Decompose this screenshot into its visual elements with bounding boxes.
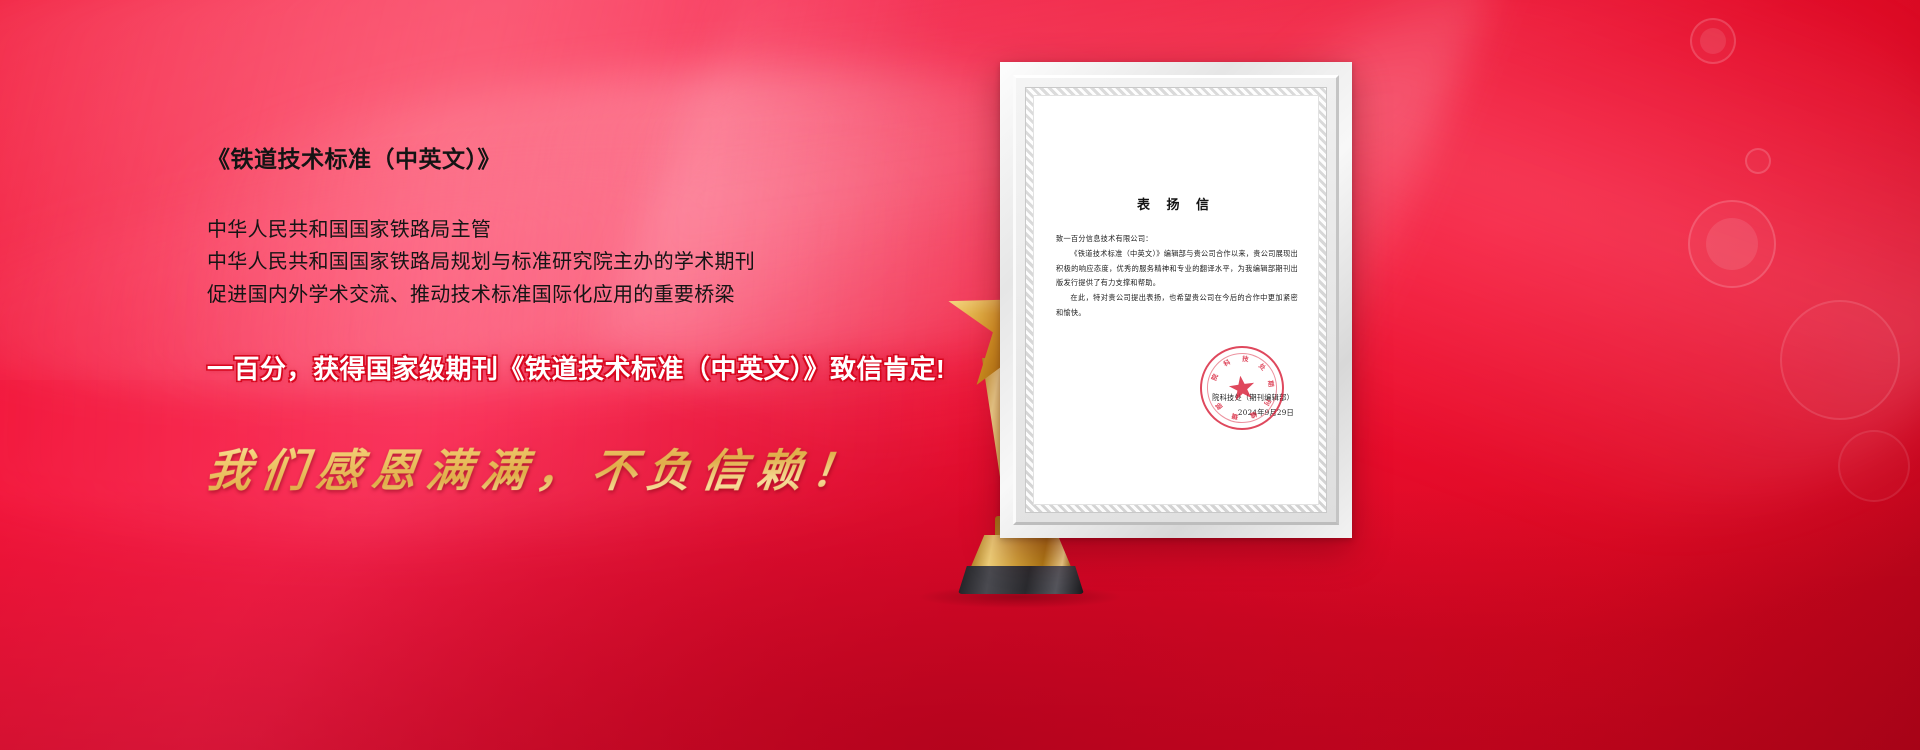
- bokeh-circle-1: [1690, 18, 1736, 64]
- award-headline: 一百分，获得国家级期刊《铁道技术标准（中英文）》致信肯定!: [207, 349, 967, 386]
- seal-ring-char: 期: [1266, 380, 1277, 388]
- description-line-3: 促进国内外学术交流、推动技术标准国际化应用的重要桥梁: [207, 279, 967, 311]
- seal-ring-text: 院科技处期刊编辑部: [1197, 343, 1287, 433]
- bokeh-circle-6: [1780, 300, 1900, 420]
- journal-description: 中华人民共和国国家铁路局主管 中华人民共和国国家铁路局规划与标准研究院主办的学术…: [207, 214, 967, 311]
- certificate-body: 致一百分信息技术有限公司： 《铁道技术标准（中英文）》编辑部与贵公司合作以来，贵…: [1056, 232, 1298, 321]
- bokeh-circle-3: [1745, 148, 1771, 174]
- certificate-salutation: 致一百分信息技术有限公司：: [1056, 232, 1298, 247]
- bokeh-circle-4: [1688, 200, 1776, 288]
- banner-copy: 《铁道技术标准（中英文）》 中华人民共和国国家铁路局主管 中华人民共和国国家铁路…: [207, 140, 967, 499]
- seal-ring-char: 处: [1257, 361, 1269, 373]
- seal-ring-char: 辑: [1230, 411, 1239, 422]
- certificate-paragraph-2: 在此，特对贵公司提出表扬，也希望贵公司在今后的合作中更加紧密和愉快。: [1056, 291, 1298, 321]
- bokeh-circle-5: [1706, 218, 1758, 270]
- certificate-frame: 表 扬 信 致一百分信息技术有限公司： 《铁道技术标准（中英文）》编辑部与贵公司…: [1000, 62, 1352, 538]
- description-line-1: 中华人民共和国国家铁路局主管: [207, 214, 967, 246]
- certificate-frame-bevel: 表 扬 信 致一百分信息技术有限公司： 《铁道技术标准（中英文）》编辑部与贵公司…: [1013, 75, 1339, 525]
- trophy-dark-base: [958, 566, 1084, 594]
- seal-ring-char: 技: [1242, 353, 1250, 364]
- seal-ring-char: 科: [1221, 356, 1232, 368]
- certificate-paragraph-1: 《铁道技术标准（中英文）》编辑部与贵公司合作以来，贵公司展现出积极的响应态度，优…: [1056, 247, 1298, 291]
- seal-ring-char: 部: [1212, 401, 1224, 413]
- seal-ring-char: 院: [1208, 372, 1220, 382]
- red-official-seal-icon: 院科技处期刊编辑部: [1195, 341, 1290, 436]
- seal-ring-char: 编: [1249, 410, 1259, 422]
- bokeh-circle-2: [1700, 28, 1726, 54]
- seal-ring-char: 刊: [1262, 397, 1274, 408]
- promo-banner: 《铁道技术标准（中英文）》 中华人民共和国国家铁路局主管 中华人民共和国国家铁路…: [0, 0, 1920, 750]
- description-line-2: 中华人民共和国国家铁路局规划与标准研究院主办的学术期刊: [207, 246, 967, 278]
- certificate-inner-edge: 表 扬 信 致一百分信息技术有限公司： 《铁道技术标准（中英文）》编辑部与贵公司…: [1025, 87, 1327, 513]
- certificate-heading: 表 扬 信: [1034, 194, 1318, 213]
- trophy-gold-base: [970, 535, 1072, 569]
- journal-title: 《铁道技术标准（中英文）》: [207, 140, 967, 174]
- certificate-paper: 表 扬 信 致一百分信息技术有限公司： 《铁道技术标准（中英文）》编辑部与贵公司…: [1033, 95, 1319, 505]
- gratitude-calligraphy: 我们感恩满满，不负信赖！: [203, 434, 971, 499]
- bokeh-circle-7: [1838, 430, 1910, 502]
